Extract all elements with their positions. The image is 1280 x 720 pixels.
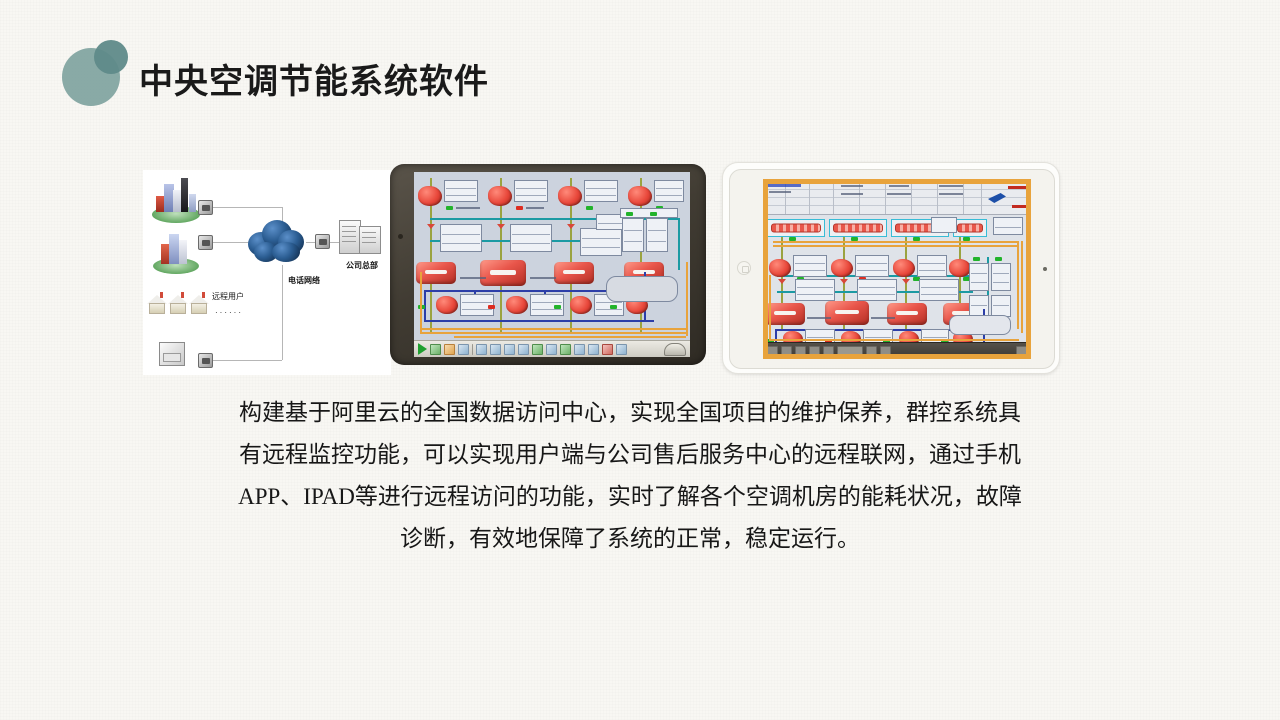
pump-icon [628, 186, 652, 206]
body-line-1: 构建基于阿里云的全国数据访问中心，实现全国项目的维护保养，群控系统具 [190, 392, 1070, 434]
body-line-4: 诊断，有效地保障了系统的正常，稳定运行。 [190, 518, 1070, 560]
toolbar-icon[interactable] [504, 344, 515, 355]
toolbar-icon[interactable] [490, 344, 501, 355]
modem-icon-3 [198, 353, 213, 368]
pump-icon [769, 259, 791, 277]
status-dome-icon [664, 343, 686, 356]
back-icon[interactable] [1016, 346, 1027, 357]
toolbar-icon[interactable] [616, 344, 627, 355]
computer-icon [159, 342, 185, 366]
cooling-tower-group [767, 219, 825, 237]
pump-icon [418, 186, 442, 206]
wire [282, 265, 283, 360]
toolbar-icon[interactable] [574, 344, 585, 355]
play-icon[interactable] [418, 343, 427, 355]
label-ellipsis: ······ [215, 308, 243, 317]
city-building-icon-2 [153, 232, 199, 274]
modem-icon-1 [198, 200, 213, 215]
wrench-icon[interactable] [823, 346, 834, 357]
close-icon[interactable] [767, 346, 778, 357]
chiller-icon [765, 303, 805, 325]
pump-icon [436, 296, 458, 314]
toolbar-icon[interactable] [781, 346, 792, 357]
pump-icon [949, 259, 971, 277]
cloud-icon [244, 216, 306, 266]
city-building-icon-1 [151, 178, 201, 224]
chiller-icon [554, 262, 594, 284]
tablet-camera-icon [398, 234, 403, 239]
houses-icon [147, 290, 213, 316]
toolbar-icon[interactable] [458, 344, 469, 355]
server-rack-icon [339, 216, 383, 256]
pump-icon [506, 296, 528, 314]
slide-header: 中央空调节能系统软件 [0, 0, 1280, 140]
tablet-dark-screen [414, 172, 690, 357]
pump-icon [831, 259, 853, 277]
body-paragraph: 构建基于阿里云的全国数据访问中心，实现全国项目的维护保养，群控系统具 有远程监控… [190, 392, 1070, 560]
label-remote-users: 远程用户 [212, 291, 244, 302]
chiller-icon [887, 303, 927, 325]
chiller-icon [416, 262, 456, 284]
pump-icon [488, 186, 512, 206]
media-row: 电话网络 远程用户 ······ 公司总部 [0, 160, 1280, 376]
pump-icon [570, 296, 592, 314]
network-topology-image: 电话网络 远程用户 ······ 公司总部 [143, 170, 391, 375]
scada-toolbar-light[interactable] [763, 342, 1031, 359]
scada-diagram-light [763, 179, 1031, 359]
toolbar-icon[interactable] [809, 346, 820, 357]
home-button[interactable] [737, 261, 751, 275]
scada-table-header [763, 179, 1031, 215]
toolbar-icon[interactable] [880, 346, 891, 357]
keyboard-icon[interactable] [837, 346, 863, 357]
label-phone-network: 电话网络 [288, 275, 320, 286]
cooling-tower-group [829, 219, 887, 237]
toolbar-icon[interactable] [560, 344, 571, 355]
chiller-icon [825, 301, 869, 325]
toolbar-icon[interactable] [476, 344, 487, 355]
gear-icon[interactable] [866, 346, 877, 357]
scada-toolbar-dark[interactable] [414, 340, 690, 357]
toolbar-icon[interactable] [444, 344, 455, 355]
tablet-white-screen [763, 179, 1031, 359]
toolbar-separator [472, 344, 473, 355]
toolbar-icon[interactable] [430, 344, 441, 355]
wire [205, 360, 282, 361]
toolbar-icon[interactable] [546, 344, 557, 355]
body-line-2: 有远程监控功能，可以实现用户端与公司售后服务中心的远程联网，通过手机 [190, 434, 1070, 476]
logo-circle-small-icon [94, 40, 128, 74]
chiller-icon [480, 260, 526, 286]
toolbar-icon[interactable] [518, 344, 529, 355]
tablet-white-photo [722, 162, 1060, 374]
settings-icon[interactable] [795, 346, 806, 357]
slide: 中央空调节能系统软件 [0, 0, 1280, 720]
camera-icon [1043, 267, 1047, 271]
logo-mark [62, 38, 138, 110]
modem-icon-2 [198, 235, 213, 250]
cooling-tower-group [953, 219, 987, 237]
scada-diagram-dark [414, 172, 690, 357]
toolbar-icon[interactable] [588, 344, 599, 355]
toolbar-icon[interactable] [532, 344, 543, 355]
toolbar-icon[interactable] [602, 344, 613, 355]
pump-icon [558, 186, 582, 206]
label-headquarters: 公司总部 [346, 260, 378, 271]
wire [203, 207, 282, 208]
company-logo-icon [988, 185, 1028, 209]
modem-icon-hq [315, 234, 330, 249]
pump-icon [893, 259, 915, 277]
body-line-3: APP、IPAD等进行远程访问的功能，实时了解各个空调机房的能耗状况，故障 [190, 476, 1070, 518]
tablet-dark-photo [390, 164, 706, 365]
page-title: 中央空调节能系统软件 [139, 60, 489, 104]
